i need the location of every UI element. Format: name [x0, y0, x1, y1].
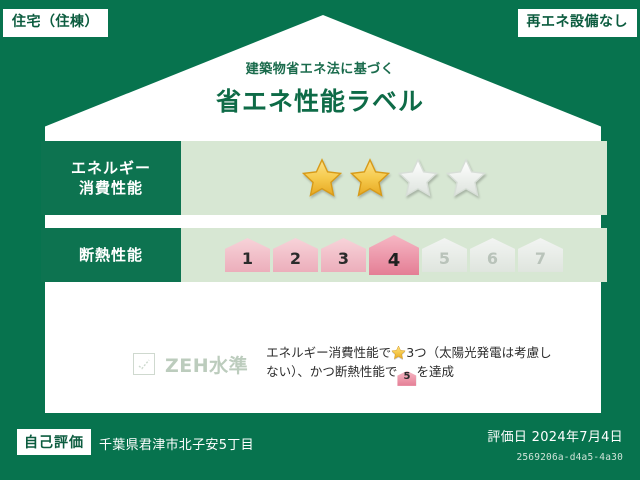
row-insulation-label-line1: 断熱性能 [79, 245, 143, 265]
insulation-chip-2: 2 [273, 238, 318, 272]
insulation-chip-3: 3 [321, 238, 366, 272]
zeh-desc-part2: 3つ（太陽光発電 [406, 345, 501, 360]
row-energy-label-line2: 消費性能 [79, 178, 143, 198]
row-insulation-label: 断熱性能 [41, 228, 181, 282]
zeh-label: ZEH水準 [165, 351, 248, 378]
insulation-chip-5: 5 [422, 238, 467, 272]
zeh-description: エネルギー消費性能で3つ（太陽光発電は考慮しない）、かつ断熱性能で5を達成 [266, 343, 556, 386]
insulation-chip-7: 7 [518, 238, 563, 272]
star-icon-filled-2 [349, 157, 391, 199]
star-icon-empty-3 [397, 157, 439, 199]
star-icon-filled-1 [301, 157, 343, 199]
insulation-chip-6: 6 [470, 238, 515, 272]
star-icon-empty-4 [445, 157, 487, 199]
star-rating-group [181, 141, 607, 215]
star-icon-inline [391, 345, 406, 360]
row-energy-consumption: エネルギー 消費性能 [41, 141, 607, 215]
row-insulation: 断熱性能 1 2 3 4 5 6 7 [41, 228, 607, 282]
zeh-desc-part1: エネルギー消費性能で [266, 345, 391, 360]
insulation-chip-1: 1 [225, 238, 270, 272]
insulation-chip-4-current: 4 [369, 235, 419, 275]
energy-performance-label: 住宅（住棟） 再エネ設備なし 建築物省エネ法に基づく 省エネ性能ラベル エネルギ… [0, 0, 640, 480]
label-footer: 自己評価 千葉県君津市北子安5丁目 評価日 2024年7月4日 2569206a… [3, 411, 637, 477]
renewable-energy-tag: 再エネ設備なし [518, 9, 638, 37]
zeh-standard-section: ZEH水準 エネルギー消費性能で3つ（太陽光発電は考慮しない）、かつ断熱性能で5… [133, 343, 556, 386]
insulation-chip-group: 1 2 3 4 5 6 7 [181, 228, 607, 282]
zeh-desc-chip-5: 5 [397, 371, 416, 386]
row-energy-consumption-label: エネルギー 消費性能 [41, 141, 181, 215]
zeh-check-glyph-icon [137, 357, 151, 371]
rating-rows: エネルギー 消費性能 [41, 141, 607, 295]
row-energy-label-line1: エネルギー [71, 158, 151, 178]
zeh-checkbox-icon [133, 353, 155, 375]
zeh-desc-part4: を達成 [416, 364, 454, 379]
building-type-tag: 住宅（住棟） [3, 9, 108, 37]
evaluation-date: 評価日 2024年7月4日 [487, 426, 623, 445]
property-address: 千葉県君津市北子安5丁目 [99, 434, 254, 453]
evaluation-id: 2569206a-d4a5-4a30 [516, 452, 623, 463]
evaluation-type-badge: 自己評価 [17, 429, 91, 455]
